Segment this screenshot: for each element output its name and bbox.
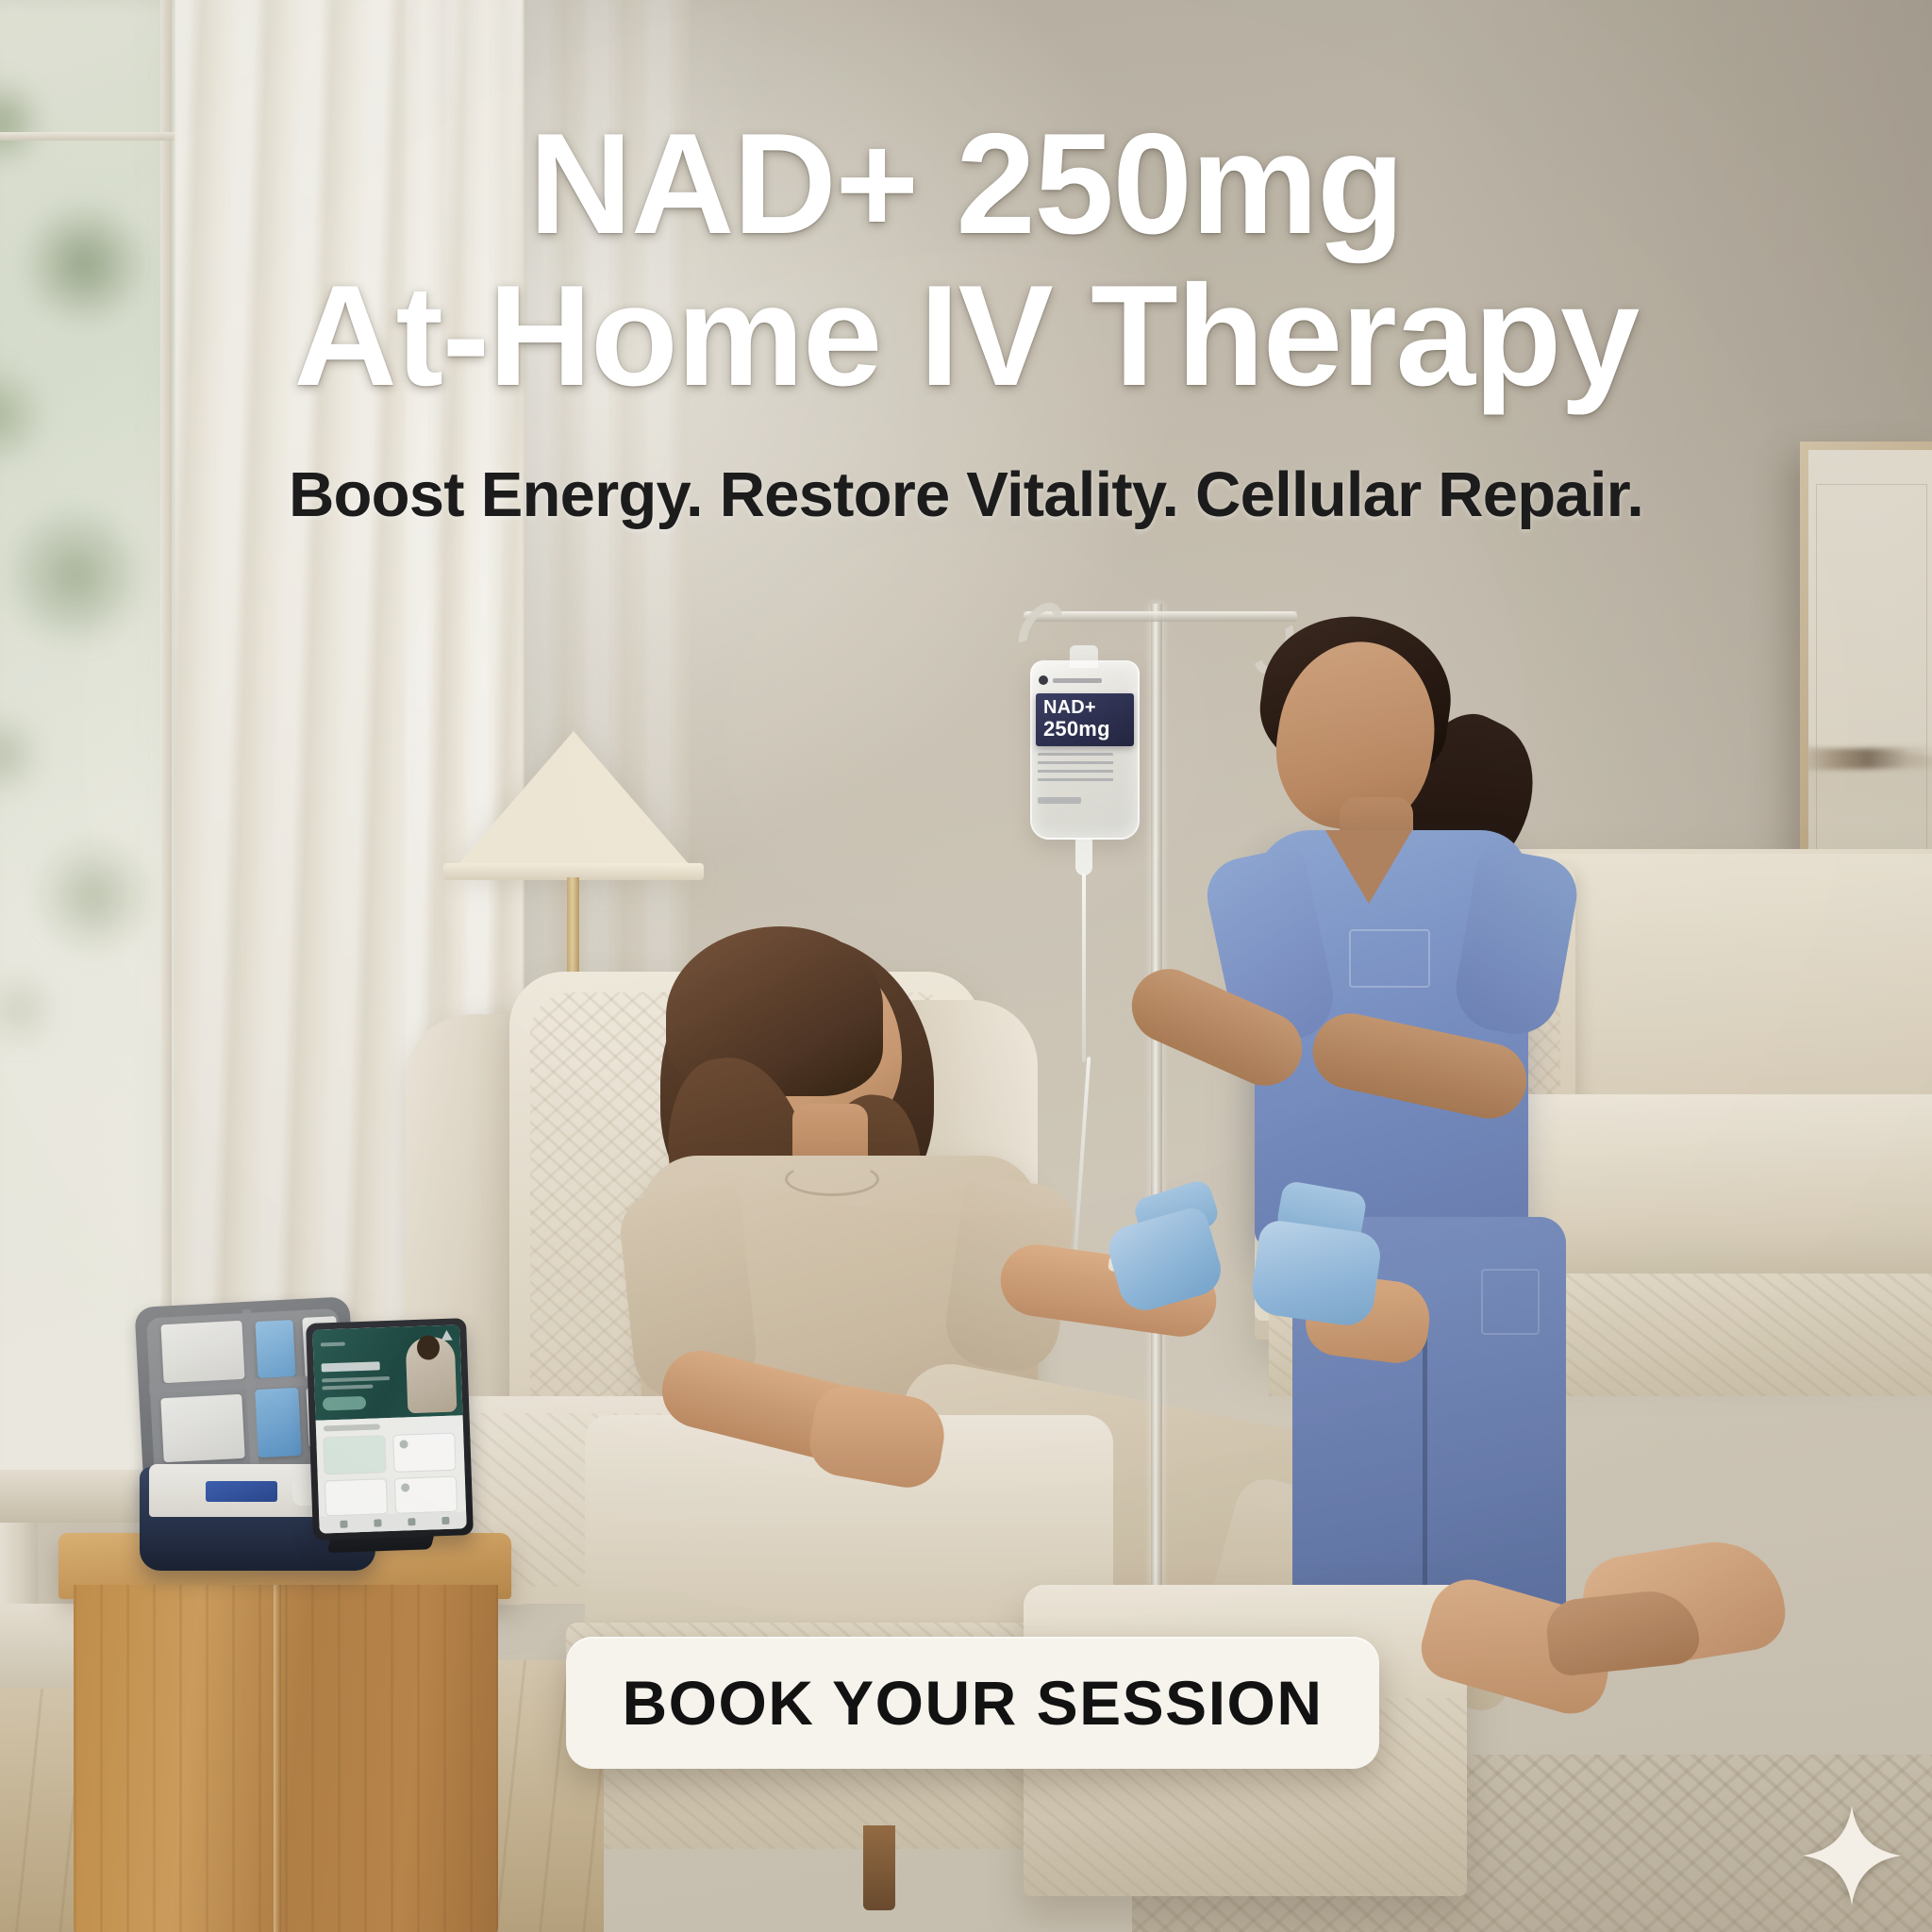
- ad-creative: NAD+ 250mg: [0, 0, 1932, 1932]
- tablet-app-hero-title: [322, 1361, 380, 1372]
- iv-bag-brand-text: [1053, 678, 1102, 683]
- iv-bag-brand-dot: [1039, 675, 1048, 685]
- book-session-button[interactable]: BOOK YOUR SESSION: [566, 1637, 1379, 1769]
- iv-tubing-upper: [1082, 874, 1086, 1062]
- tablet-app-eyebrow-text: [321, 1342, 345, 1347]
- nurse-glove-right: [1249, 1218, 1384, 1328]
- iv-bag-label: NAD+ 250mg: [1036, 693, 1134, 746]
- tablet-nav-item[interactable]: [408, 1518, 415, 1525]
- tablet-app-cta-button[interactable]: [323, 1396, 366, 1411]
- tablet-app-hero-copy: [322, 1385, 373, 1391]
- side-table-body: [74, 1585, 498, 1932]
- brand-sparkle-icon: [1800, 1804, 1904, 1907]
- tablet-app-card[interactable]: [323, 1435, 386, 1474]
- iv-bag-label-line1: NAD+: [1043, 698, 1134, 718]
- medical-kit-supply-pack: [160, 1321, 244, 1383]
- tablet-app-hero-copy: [322, 1376, 390, 1383]
- medical-kit-supply-pack: [255, 1388, 302, 1457]
- medical-kit-supply-pack: [160, 1394, 244, 1462]
- headline-line-2: At-Home IV Therapy: [0, 263, 1932, 409]
- tablet-app-hero: [312, 1324, 462, 1420]
- tablet-nav-item[interactable]: [374, 1519, 381, 1526]
- iv-pole-crossbar: [1024, 611, 1297, 622]
- iv-pole-shaft: [1151, 604, 1162, 1623]
- book-session-button-label: BOOK YOUR SESSION: [622, 1667, 1323, 1739]
- tablet-app-card[interactable]: [394, 1476, 458, 1514]
- armchair-leg: [863, 1825, 895, 1910]
- tablet-app-section-heading: [324, 1424, 380, 1431]
- headline: NAD+ 250mg At-Home IV Therapy: [0, 111, 1932, 409]
- nurse-scrub-vneck: [1325, 830, 1412, 904]
- iv-bag-fine-print: [1038, 753, 1113, 785]
- tablet-nav-item[interactable]: [340, 1521, 347, 1528]
- iv-drip-chamber: [1075, 838, 1092, 875]
- side-table-edge: [274, 1585, 281, 1932]
- headline-line-1: NAD+ 250mg: [529, 104, 1404, 264]
- client-collar: [785, 1162, 879, 1196]
- iv-bag-label-line2: 250mg: [1043, 718, 1134, 740]
- nurse-pant-pocket: [1481, 1269, 1540, 1335]
- tablet-nav-item[interactable]: [441, 1517, 449, 1524]
- nurse-foot: [1543, 1587, 1701, 1677]
- medical-kit-item-blue: [206, 1481, 277, 1502]
- nurse-chest-pocket: [1349, 929, 1430, 988]
- tablet-app-card[interactable]: [325, 1478, 388, 1516]
- medical-kit-supply-pack: [255, 1320, 295, 1378]
- lamp-shade: [451, 731, 696, 873]
- tablet-app-card[interactable]: [392, 1433, 456, 1473]
- iv-bag-fine-print-secondary: [1038, 797, 1081, 804]
- iv-bag: [1030, 660, 1140, 840]
- subheadline: Boost Energy. Restore Vitality. Cellular…: [0, 458, 1932, 531]
- tablet-screen[interactable]: [312, 1324, 466, 1533]
